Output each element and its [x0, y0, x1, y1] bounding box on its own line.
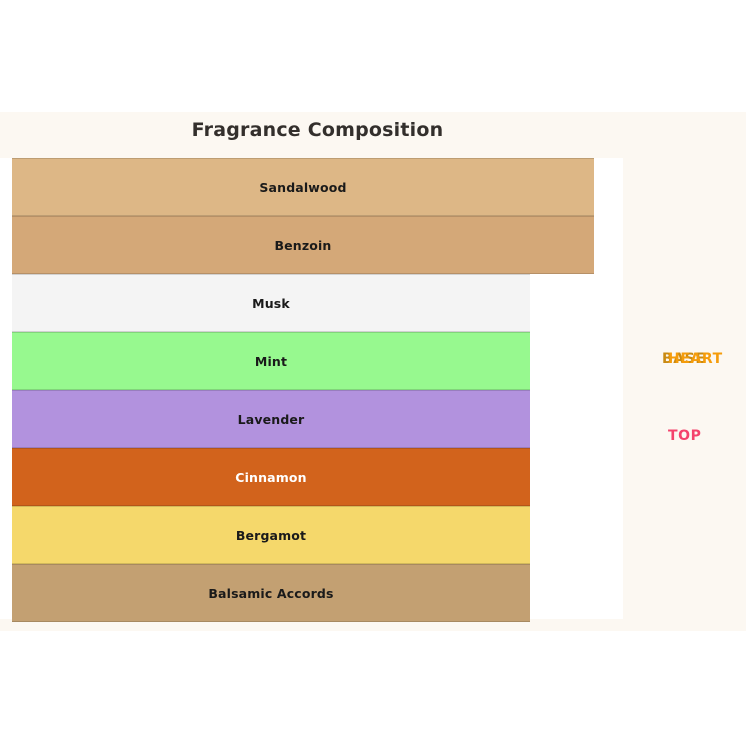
- group-label-heart: HEART: [668, 351, 723, 367]
- bar-lavender[interactable]: Lavender: [12, 390, 530, 448]
- bar-label: Mint: [255, 354, 287, 369]
- chart-title: Fragrance Composition: [0, 119, 635, 141]
- bar-label: Benzoin: [274, 238, 331, 253]
- bar-label: Sandalwood: [259, 180, 346, 195]
- bar-label: Balsamic Accords: [208, 586, 333, 601]
- bar-musk[interactable]: Musk: [12, 274, 530, 332]
- bar-label: Musk: [252, 296, 290, 311]
- group-label-top: TOP: [668, 428, 702, 444]
- bar-sandalwood[interactable]: Sandalwood: [12, 158, 594, 216]
- bar-balsamic-accords[interactable]: Balsamic Accords: [12, 564, 530, 622]
- chart-screenshot: Fragrance Composition SandalwoodBenzoinM…: [0, 0, 746, 746]
- bar-label: Lavender: [238, 412, 305, 427]
- bar-cinnamon[interactable]: Cinnamon: [12, 448, 530, 506]
- bar-benzoin[interactable]: Benzoin: [12, 216, 594, 274]
- bar-label: Bergamot: [236, 528, 306, 543]
- bar-bergamot[interactable]: Bergamot: [12, 506, 530, 564]
- bar-label: Cinnamon: [235, 470, 306, 485]
- bar-mint[interactable]: Mint: [12, 332, 530, 390]
